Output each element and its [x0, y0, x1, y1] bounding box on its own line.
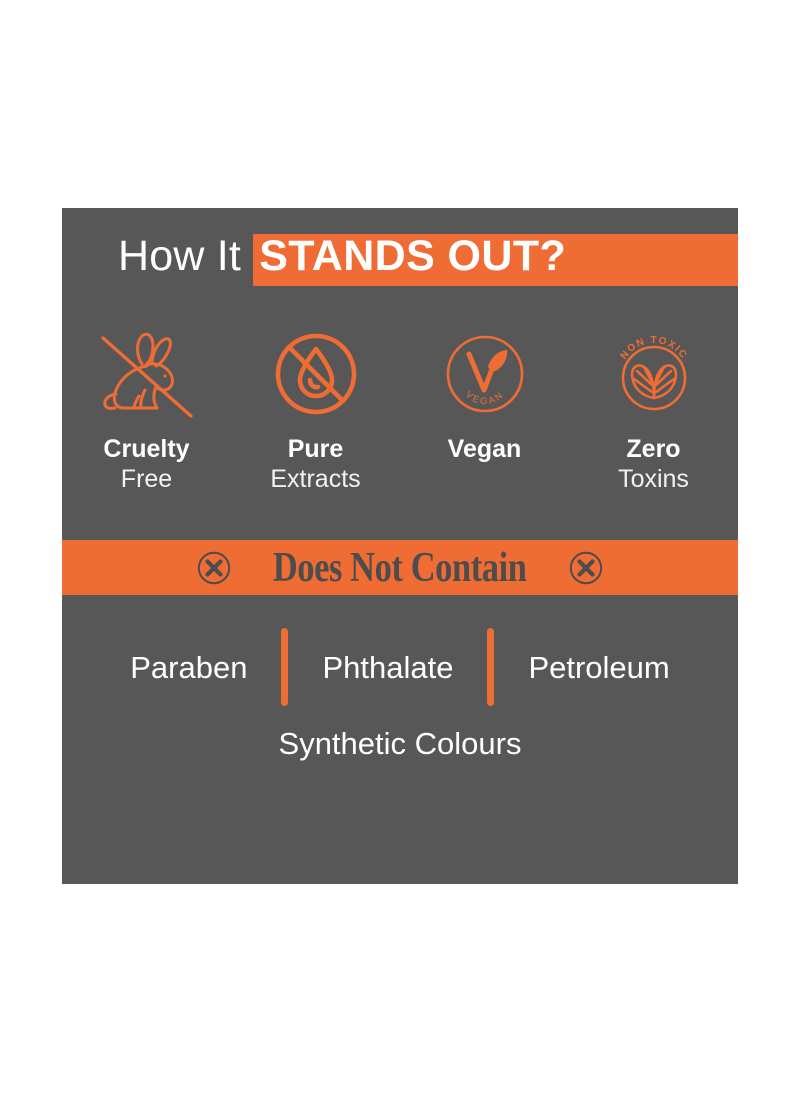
exclusion-row-secondary: Synthetic Colours: [62, 728, 738, 759]
circled-x-icon: [568, 550, 604, 586]
circled-x-icon: [196, 550, 232, 586]
feature-label-line2: Free: [121, 466, 172, 492]
exclusion-item: Synthetic Colours: [279, 728, 522, 759]
headline-highlight-text: STANDS OUT?: [253, 235, 566, 278]
page-title: How It STANDS OUT?: [62, 226, 738, 286]
feature-label-line1: Pure: [288, 436, 344, 462]
exclusion-row-primary: Paraben Phthalate Petroleum: [62, 628, 738, 706]
feature-label-line1: Vegan: [448, 436, 522, 462]
does-not-contain-banner: Does Not Contain: [62, 540, 738, 595]
no-droplet-pure-extracts-icon: [264, 326, 368, 422]
feature-label-line2: Toxins: [618, 466, 689, 492]
headline-plain-text: How It: [62, 235, 253, 278]
exclusion-item: Petroleum: [528, 652, 669, 683]
feature-pure-extracts: Pure Extracts: [231, 326, 400, 493]
exclusion-divider: [281, 628, 288, 706]
infographic-panel: How It STANDS OUT?: [62, 208, 738, 884]
exclusion-divider: [487, 628, 494, 706]
feature-vegan: VEGAN Vegan: [400, 326, 569, 466]
feature-zero-toxins: NON TOXIC Zero Toxins: [569, 326, 738, 493]
feature-label-line1: Cruelty: [103, 436, 189, 462]
feature-cruelty-free: Cruelty Free: [62, 326, 231, 493]
feature-list: Cruelty Free Pure Ext: [62, 326, 738, 493]
feature-label-line1: Zero: [626, 436, 680, 462]
vegan-badge-icon: VEGAN: [433, 326, 537, 422]
non-toxic-leaves-badge-icon: NON TOXIC: [602, 326, 706, 422]
banner-title: Does Not Contain: [273, 547, 527, 589]
no-animal-testing-rabbit-icon: [95, 326, 199, 422]
exclusion-item: Phthalate: [322, 652, 453, 683]
headline-highlight-wrap: STANDS OUT?: [253, 226, 738, 286]
feature-label-line2: Extracts: [270, 466, 360, 492]
exclusion-item: Paraben: [130, 652, 247, 683]
